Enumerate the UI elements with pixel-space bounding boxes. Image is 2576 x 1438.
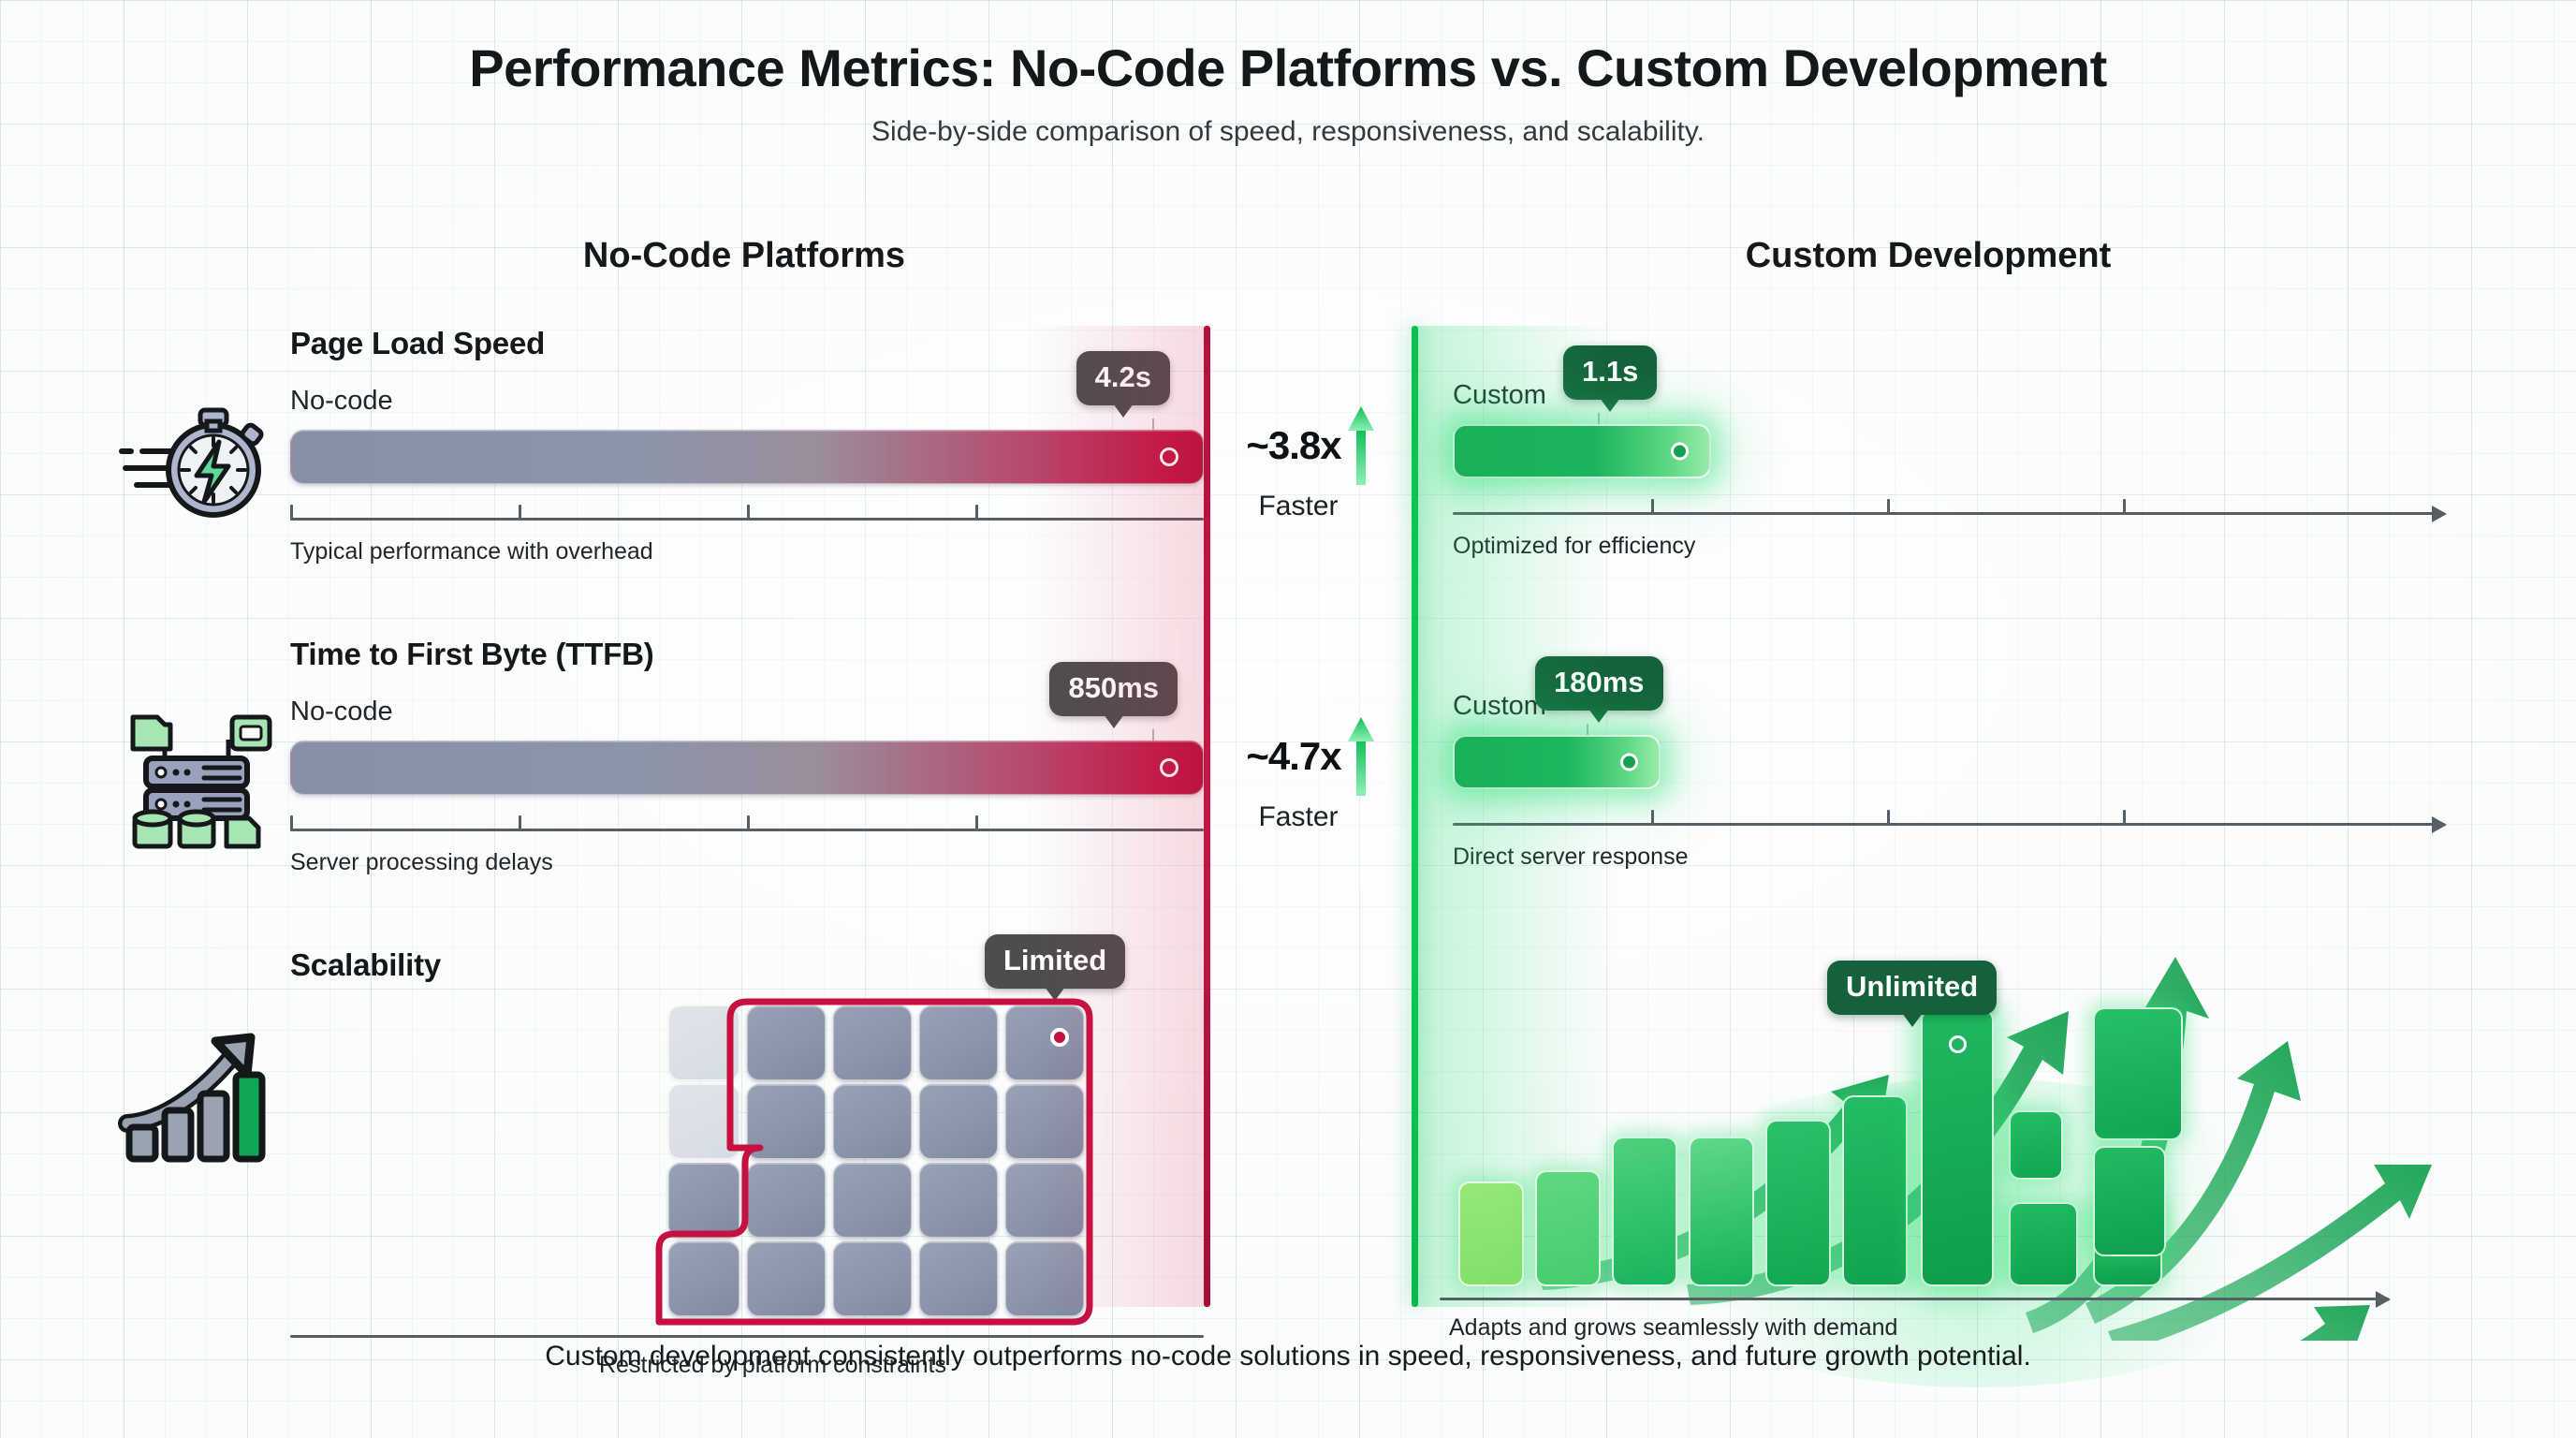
bar-endpoint-marker — [1160, 448, 1178, 466]
axis-tick — [747, 505, 750, 521]
column-heading-nocode: No-Code Platforms — [281, 236, 1207, 276]
grid-block — [919, 1241, 998, 1316]
axis-tick — [1651, 499, 1654, 515]
growth-bar — [1765, 1120, 1831, 1286]
grid-block — [919, 1084, 998, 1159]
infographic-header: Performance Metrics: No-Code Platforms v… — [0, 39, 2576, 148]
multiplier-value: ~3.8x — [1246, 423, 1340, 468]
axis-tick — [2123, 499, 2126, 515]
peak-marker — [1949, 1035, 1967, 1053]
value-badge-nocode-speed: 4.2s — [1076, 351, 1170, 405]
grid-block — [747, 1084, 826, 1159]
up-arrow-icon — [1347, 713, 1375, 800]
caption-custom-scalability: Adapts and grows seamlessly with demand — [1449, 1314, 1897, 1342]
axis-arrowhead — [2432, 816, 2447, 833]
axis-tick — [975, 815, 978, 831]
divider-custom — [1412, 326, 1418, 1307]
axis-arrowhead — [2432, 506, 2447, 522]
axis-arrowhead — [2376, 1291, 2391, 1308]
grid-block — [1005, 1005, 1084, 1080]
multiplier-label: Faster — [1226, 491, 1370, 522]
page-subtitle: Side-by-side comparison of speed, respon… — [0, 116, 2576, 148]
up-arrow-icon — [1347, 403, 1375, 489]
value-badge-nocode-ttfb: 850ms — [1049, 662, 1178, 716]
axis-tick — [1887, 810, 1890, 826]
multiplier-ttfb: ~4.7x Faster — [1226, 713, 1395, 833]
bar-custom-ttfb — [1453, 735, 1661, 789]
series-label-nocode: No-code — [290, 386, 1204, 417]
footer-summary: Custom development consistently outperfo… — [0, 1341, 2576, 1372]
metric-row-page-load-speed: Page Load Speed No-code 4.2s Typical per… — [0, 326, 2576, 635]
axis-tick — [975, 505, 978, 521]
caption-nocode-ttfb: Server processing delays — [290, 849, 1204, 876]
multiplier-value: ~4.7x — [1246, 734, 1340, 779]
axis-custom-ttfb — [1453, 808, 2445, 830]
grid-block — [919, 1163, 998, 1238]
divider-nocode — [1204, 326, 1210, 1307]
grid-block — [833, 1005, 912, 1080]
grid-block — [1005, 1084, 1084, 1159]
constraint-marker — [1050, 1028, 1069, 1047]
axis-tick — [1651, 810, 1654, 826]
grid-block — [668, 1241, 739, 1316]
bar-custom-page-load-speed — [1453, 424, 1711, 478]
growth-bar — [2093, 1007, 2183, 1140]
axis-nocode-scalability — [290, 1320, 1204, 1343]
grid-block — [833, 1163, 912, 1238]
bar-endpoint-marker — [1160, 758, 1178, 777]
caption-nocode-speed: Typical performance with overhead — [290, 538, 1204, 565]
growth-bar — [1458, 1181, 1524, 1286]
axis-tick — [290, 505, 293, 521]
axis-tick — [519, 505, 521, 521]
multiplier-page-load-speed: ~3.8x Faster — [1226, 403, 1395, 522]
grid-block — [1005, 1241, 1084, 1316]
scalability-growth-chart-custom: Unlimited Adapts and grows seamlessly wi… — [1453, 947, 2454, 1228]
growth-bar-peak — [1921, 1009, 1994, 1286]
metric-title: Page Load Speed — [290, 326, 1204, 361]
caption-custom-ttfb: Direct server response — [1453, 844, 2445, 871]
ghost-block — [668, 1005, 739, 1080]
axis-line — [1453, 512, 2445, 515]
ghost-block — [668, 1084, 739, 1159]
axis-tick — [1887, 499, 1890, 515]
value-badge-custom-ttfb: 180ms — [1535, 656, 1663, 711]
grid-block — [1005, 1163, 1084, 1238]
axis-nocode-speed — [290, 503, 1204, 525]
axis-tick — [519, 815, 521, 831]
value-badge-custom-scalability: Unlimited — [1827, 961, 1997, 1015]
grid-block — [833, 1084, 912, 1159]
axis-line — [1440, 1298, 2389, 1300]
grid-block — [747, 1005, 826, 1080]
grid-block — [919, 1005, 998, 1080]
growth-bar — [2009, 1202, 2078, 1286]
grid-block — [668, 1163, 739, 1238]
page-load-speed-right-panel: Custom 1.1s Optimized for efficiency — [1453, 326, 2445, 560]
bar-endpoint-marker — [1620, 754, 1638, 771]
stopwatch-icon — [110, 393, 279, 543]
ttfb-left-panel: Time to First Byte (TTFB) No-code 850ms … — [290, 637, 1204, 876]
column-heading-custom: Custom Development — [1413, 236, 2443, 276]
axis-line — [1453, 823, 2445, 826]
grid-block — [833, 1241, 912, 1316]
page-title: Performance Metrics: No-Code Platforms v… — [0, 39, 2576, 97]
growth-bar — [1689, 1137, 1754, 1286]
value-badge-custom-speed: 1.1s — [1563, 345, 1657, 400]
growth-chart-icon — [110, 1022, 279, 1172]
server-network-icon — [110, 704, 279, 854]
axis-line — [290, 1335, 1204, 1338]
metric-row-scalability: Scalability — [0, 947, 2576, 1256]
bar-nocode-page-load-speed — [290, 430, 1204, 484]
value-badge-nocode-scalability: Limited — [985, 934, 1125, 989]
growth-bar — [1535, 1170, 1601, 1286]
ttfb-right-panel: Custom 180ms Direct server response — [1453, 637, 2445, 871]
growth-bar — [2009, 1110, 2063, 1180]
grid-block — [747, 1241, 826, 1316]
axis-tick — [2123, 810, 2126, 826]
page-load-speed-left-panel: Page Load Speed No-code 4.2s Typical per… — [290, 326, 1204, 565]
axis-custom-scalability — [1440, 1283, 2389, 1305]
axis-custom-speed — [1453, 497, 2445, 520]
growth-bar — [2093, 1146, 2166, 1256]
bar-endpoint-marker — [1671, 443, 1689, 461]
axis-tick — [290, 815, 293, 831]
caption-custom-speed: Optimized for efficiency — [1453, 533, 2445, 560]
growth-bar — [1842, 1095, 1908, 1286]
axis-nocode-ttfb — [290, 814, 1204, 836]
grid-block — [747, 1163, 826, 1238]
scalability-block-grid-nocode: Limited Restricted by platform constrain… — [290, 947, 1204, 1228]
growth-bar — [1612, 1137, 1677, 1286]
bar-nocode-ttfb — [290, 741, 1204, 795]
axis-tick — [747, 815, 750, 831]
multiplier-label: Faster — [1226, 801, 1370, 833]
